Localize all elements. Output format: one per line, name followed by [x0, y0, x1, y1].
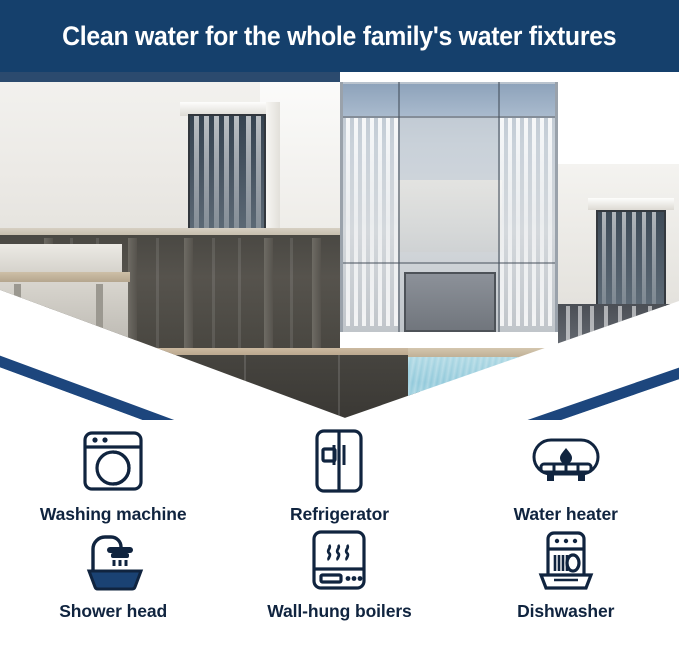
chair-leg [156, 392, 158, 410]
facade-slat [156, 238, 159, 350]
facade-slat [212, 238, 215, 350]
curtain-strip [246, 116, 251, 230]
curtain-strip [256, 116, 261, 230]
window-reveal-side [266, 102, 280, 232]
curtain-strip [540, 118, 544, 326]
washing-machine-icon [77, 424, 149, 498]
facade-slat [290, 238, 293, 350]
curtain-strip [578, 306, 582, 358]
curtain-strip [648, 306, 652, 358]
feature-item-water-heater: Water heater [453, 424, 679, 525]
paving-joint [338, 355, 340, 420]
pergola-slab [0, 244, 122, 274]
curtain-strip [204, 116, 209, 230]
refrigerator-icon [303, 424, 375, 498]
wall-hung-boiler-icon [306, 525, 372, 595]
paving-joint [150, 355, 152, 420]
chair-leg [122, 392, 124, 410]
chair-leg [236, 392, 238, 410]
dishwasher-icon [531, 525, 601, 595]
curtain-strip [622, 212, 626, 304]
feature-icon-grid: Washing machine Refrigerator [0, 424, 679, 657]
feature-label: Wall-hung boilers [267, 601, 411, 622]
facade-slat [312, 238, 321, 350]
atrium-frame [340, 82, 343, 332]
atrium-frame [555, 82, 558, 332]
window-mullion [340, 116, 558, 118]
feature-label: Refrigerator [290, 504, 389, 525]
facade-slat [238, 238, 241, 350]
window-mullion [498, 82, 500, 332]
hero-image-clip [0, 72, 679, 420]
feature-item-dishwasher: Dishwasher [453, 525, 679, 622]
pergola-post [96, 284, 103, 354]
chair-leg [204, 392, 206, 410]
pool-water-sparkle [408, 357, 528, 420]
dining-table [112, 378, 248, 382]
curtain-strip [632, 212, 636, 304]
curtain-strip [224, 116, 229, 230]
terrace-paving [0, 355, 420, 420]
curtain-strip [602, 212, 606, 304]
chair-leg [222, 392, 224, 410]
feature-item-shower-head: Shower head [0, 525, 226, 622]
curtain-strip [346, 118, 350, 326]
feature-label: Dishwasher [517, 601, 614, 622]
feature-item-washing-machine: Washing machine [0, 424, 226, 525]
sky-right [556, 72, 679, 164]
curtain-strip [524, 118, 528, 326]
curtain-strip [214, 116, 219, 230]
curtain-strip [566, 306, 570, 358]
curtain-strip [612, 212, 616, 304]
feature-item-refrigerator: Refrigerator [226, 424, 452, 525]
product-feature-banner: Clean water for the whole family's water… [0, 0, 679, 657]
atrium-door [404, 272, 496, 332]
chair-leg [136, 392, 138, 410]
curtain-strip [378, 118, 382, 326]
curtain-strip [362, 118, 366, 326]
feature-row: Shower head Wall-hun [0, 525, 679, 622]
feature-item-wall-hung-boilers: Wall-hung boilers [226, 525, 452, 622]
dining-chair [184, 368, 210, 394]
curtain-strip [370, 118, 374, 326]
curtain-strip [652, 212, 656, 304]
water-heater-icon [528, 424, 604, 498]
atrium-transom [343, 84, 555, 116]
chair-leg [170, 392, 172, 410]
curtain-strip [386, 118, 390, 326]
dining-chair [150, 368, 176, 394]
curtain-strip [354, 118, 358, 326]
modern-house-photo [0, 72, 679, 420]
curtain-strip [548, 118, 552, 326]
facade-slat [128, 238, 137, 350]
feature-label: Water heater [514, 504, 618, 525]
curtain-strip [234, 116, 239, 230]
hero-image-container [0, 72, 679, 420]
curtain-strip [604, 306, 608, 358]
curtain-strip [508, 118, 512, 326]
header-banner: Clean water for the whole family's water… [0, 0, 679, 72]
window-reveal-right [588, 198, 674, 210]
paving-joint [244, 355, 246, 420]
curtain-strip [632, 306, 636, 358]
shower-head-icon [77, 525, 149, 595]
feature-row: Washing machine Refrigerator [0, 424, 679, 525]
curtain-strip [532, 118, 536, 326]
dining-chair [116, 368, 142, 394]
page-title: Clean water for the whole family's water… [62, 21, 616, 52]
curtain-strip [500, 118, 504, 326]
pergola-post [14, 284, 21, 354]
curtain-strip [642, 212, 646, 304]
feature-label: Shower head [59, 601, 167, 622]
curtain-strip [516, 118, 520, 326]
window-mullion [398, 82, 400, 332]
feature-label: Washing machine [40, 504, 187, 525]
pergola-beam [0, 272, 130, 282]
facade-slat [264, 238, 273, 350]
window-mullion [340, 262, 558, 264]
curtain-strip [194, 116, 199, 230]
atrium-interior [398, 180, 502, 252]
curtain-strip [618, 306, 622, 358]
facade-slat [184, 238, 193, 350]
curtain-strip [590, 306, 594, 358]
chair-leg [190, 392, 192, 410]
